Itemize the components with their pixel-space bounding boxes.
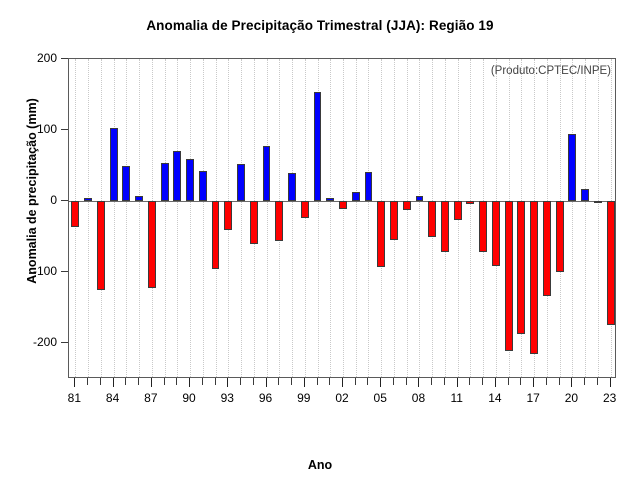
bar-91	[199, 171, 207, 202]
grid-line	[343, 59, 344, 377]
x-tick	[227, 378, 228, 387]
x-tick	[533, 378, 534, 387]
bar-20	[568, 134, 576, 202]
grid-line	[598, 59, 599, 377]
x-tick	[571, 378, 572, 387]
bar-21	[581, 189, 589, 201]
bar-06	[390, 201, 398, 239]
bar-14	[492, 201, 500, 266]
bar-04	[365, 172, 373, 201]
bar-88	[161, 163, 169, 201]
x-tick-label: 17	[526, 391, 539, 405]
grid-line	[177, 59, 178, 377]
bar-13	[479, 201, 487, 251]
x-tick	[457, 378, 458, 387]
x-tick	[164, 378, 165, 385]
bar-08	[416, 196, 424, 201]
grid-line	[470, 59, 471, 377]
bar-17	[530, 201, 538, 354]
x-tick-label: 84	[106, 391, 119, 405]
x-tick	[189, 378, 190, 387]
bar-98	[288, 173, 296, 201]
x-tick	[278, 378, 279, 385]
grid-line	[330, 59, 331, 377]
x-tick-label: 20	[565, 391, 578, 405]
x-tick	[215, 378, 216, 385]
x-tick	[125, 378, 126, 385]
x-tick	[406, 378, 407, 385]
y-tick-label: -100	[33, 264, 57, 278]
x-tick	[393, 378, 394, 385]
x-axis: 818487909396990205081114172023	[68, 378, 616, 448]
chart-root: Anomalia de Precipitação Trimestral (JJA…	[0, 0, 640, 500]
x-tick	[355, 378, 356, 385]
bar-94	[237, 164, 245, 202]
y-tick	[61, 58, 68, 59]
x-tick	[291, 378, 292, 385]
x-tick	[469, 378, 470, 385]
y-tick	[61, 200, 68, 201]
bar-18	[543, 201, 551, 296]
bar-00	[314, 92, 322, 201]
bar-22	[594, 201, 602, 203]
grid-line	[572, 59, 573, 377]
bar-93	[224, 201, 232, 230]
y-tick-label: 200	[37, 51, 57, 65]
x-tick	[253, 378, 254, 385]
x-axis-title: Ano	[0, 458, 640, 472]
plot-area: (Produto:CPTEC/INPE)	[68, 58, 616, 378]
y-tick-label: -200	[33, 335, 57, 349]
bar-97	[275, 201, 283, 241]
grid-line	[203, 59, 204, 377]
bar-85	[122, 166, 130, 201]
x-tick	[380, 378, 381, 387]
bar-90	[186, 159, 194, 202]
x-tick	[418, 378, 419, 387]
bar-95	[250, 201, 258, 244]
y-tick	[61, 129, 68, 130]
bar-82	[84, 198, 92, 202]
grid-line	[267, 59, 268, 377]
x-tick	[329, 378, 330, 385]
bar-23	[607, 201, 615, 325]
bar-96	[263, 146, 271, 201]
grid-line	[585, 59, 586, 377]
x-tick-label: 90	[182, 391, 195, 405]
x-tick	[138, 378, 139, 385]
x-tick	[240, 378, 241, 385]
y-axis-title: Anomalia de precipitação (mm)	[25, 41, 39, 341]
x-tick	[546, 378, 547, 385]
y-tick-label: 0	[50, 193, 57, 207]
bar-19	[556, 201, 564, 272]
bar-87	[148, 201, 156, 288]
x-tick	[342, 378, 343, 387]
grid-line	[407, 59, 408, 377]
x-tick-label: 93	[221, 391, 234, 405]
x-tick	[520, 378, 521, 385]
grid-line	[165, 59, 166, 377]
x-tick	[202, 378, 203, 385]
x-tick	[176, 378, 177, 385]
bar-15	[505, 201, 513, 350]
x-tick	[597, 378, 598, 385]
x-tick	[508, 378, 509, 385]
bar-83	[97, 201, 105, 290]
x-tick	[151, 378, 152, 387]
bar-89	[173, 151, 181, 201]
plot-clip	[69, 59, 615, 377]
grid-line	[139, 59, 140, 377]
x-tick	[317, 378, 318, 385]
grid-line	[88, 59, 89, 377]
x-tick	[113, 378, 114, 387]
x-tick	[482, 378, 483, 385]
x-tick	[584, 378, 585, 385]
x-tick-label: 05	[374, 391, 387, 405]
grid-line	[292, 59, 293, 377]
chart-title: Anomalia de Precipitação Trimestral (JJA…	[0, 18, 640, 33]
x-tick	[304, 378, 305, 387]
x-tick	[559, 378, 560, 385]
bar-11	[454, 201, 462, 220]
grid-line	[126, 59, 127, 377]
x-tick	[266, 378, 267, 387]
grid-line	[356, 59, 357, 377]
y-tick-label: 100	[37, 122, 57, 136]
x-tick-label: 96	[259, 391, 272, 405]
bar-12	[466, 201, 474, 204]
x-tick-label: 11	[450, 391, 462, 405]
x-tick-label: 99	[297, 391, 310, 405]
x-tick	[431, 378, 432, 385]
x-tick-label: 02	[335, 391, 348, 405]
bar-84	[110, 128, 118, 201]
x-tick	[495, 378, 496, 387]
bar-99	[301, 201, 309, 218]
x-tick-label: 14	[488, 391, 501, 405]
bar-05	[377, 201, 385, 266]
bar-07	[403, 201, 411, 210]
bar-03	[352, 192, 360, 201]
x-tick	[610, 378, 611, 387]
bar-16	[517, 201, 525, 334]
y-axis: Anomalia de precipitação (mm) 2001000-10…	[0, 58, 68, 378]
x-tick-label: 08	[412, 391, 425, 405]
y-tick	[61, 271, 68, 272]
x-tick	[74, 378, 75, 387]
x-tick-label: 87	[144, 391, 157, 405]
x-tick-label: 23	[603, 391, 616, 405]
x-tick	[87, 378, 88, 385]
x-tick-label: 81	[68, 391, 81, 405]
bar-81	[71, 201, 79, 227]
source-annotation: (Produto:CPTEC/INPE)	[491, 65, 611, 77]
bar-86	[135, 196, 143, 202]
bar-09	[428, 201, 436, 237]
grid-line	[114, 59, 115, 377]
bar-01	[326, 198, 334, 202]
x-tick	[367, 378, 368, 385]
grid-line	[368, 59, 369, 377]
grid-line	[241, 59, 242, 377]
x-tick	[100, 378, 101, 385]
grid-line	[419, 59, 420, 377]
x-tick	[444, 378, 445, 385]
grid-line	[190, 59, 191, 377]
bar-92	[212, 201, 220, 269]
bar-02	[339, 201, 347, 209]
y-tick	[61, 342, 68, 343]
bar-10	[441, 201, 449, 251]
